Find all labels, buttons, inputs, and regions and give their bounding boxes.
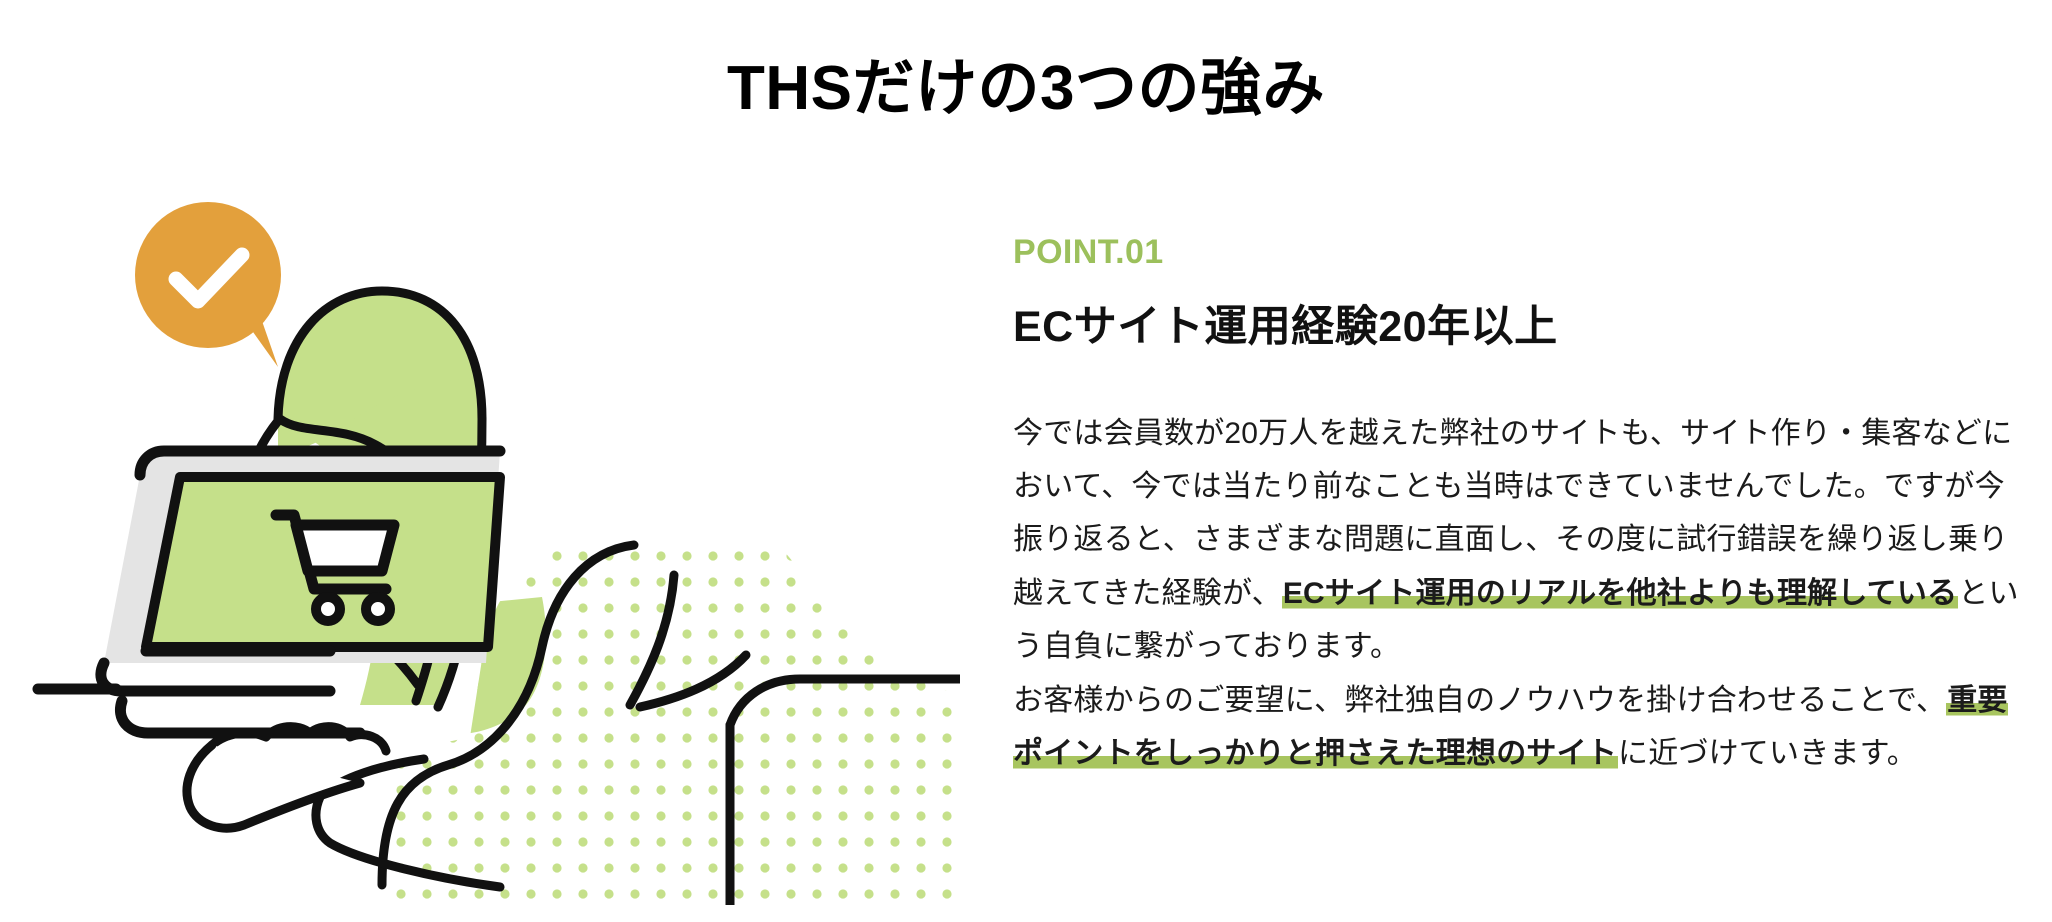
point-content: POINT.01 ECサイト運用経験20年以上 今では会員数が20万人を越えた弊…	[1013, 232, 2023, 780]
laptop-base-line	[120, 701, 360, 733]
paragraph-2-text-part-2: に近づけていきます。	[1618, 737, 1917, 770]
point-paragraph-1: 今では会員数が20万人を越えた弊社のサイトも、サイト作り・集客などにおいて、今で…	[1013, 407, 2023, 781]
point-heading: ECサイト運用経験20年以上	[1013, 301, 2023, 355]
paragraph-2-text-part-1: お客様からのご要望に、弊社独自のノウハウを掛け合わせることで、	[1013, 684, 1946, 717]
speech-bubble-tail	[248, 321, 278, 367]
point-label: POINT.01	[1013, 232, 2023, 273]
page-root: THSだけの3つの強み	[0, 0, 2052, 922]
hand-palm	[187, 745, 360, 828]
speech-bubble-check	[135, 202, 281, 367]
page-title: THSだけの3つの強み	[0, 50, 2052, 128]
laptop-hinge-line	[101, 663, 330, 691]
paragraph-1-highlight-1: ECサイト運用のリアルを他社よりも理解している	[1282, 577, 1958, 610]
hero-illustration	[30, 185, 960, 905]
